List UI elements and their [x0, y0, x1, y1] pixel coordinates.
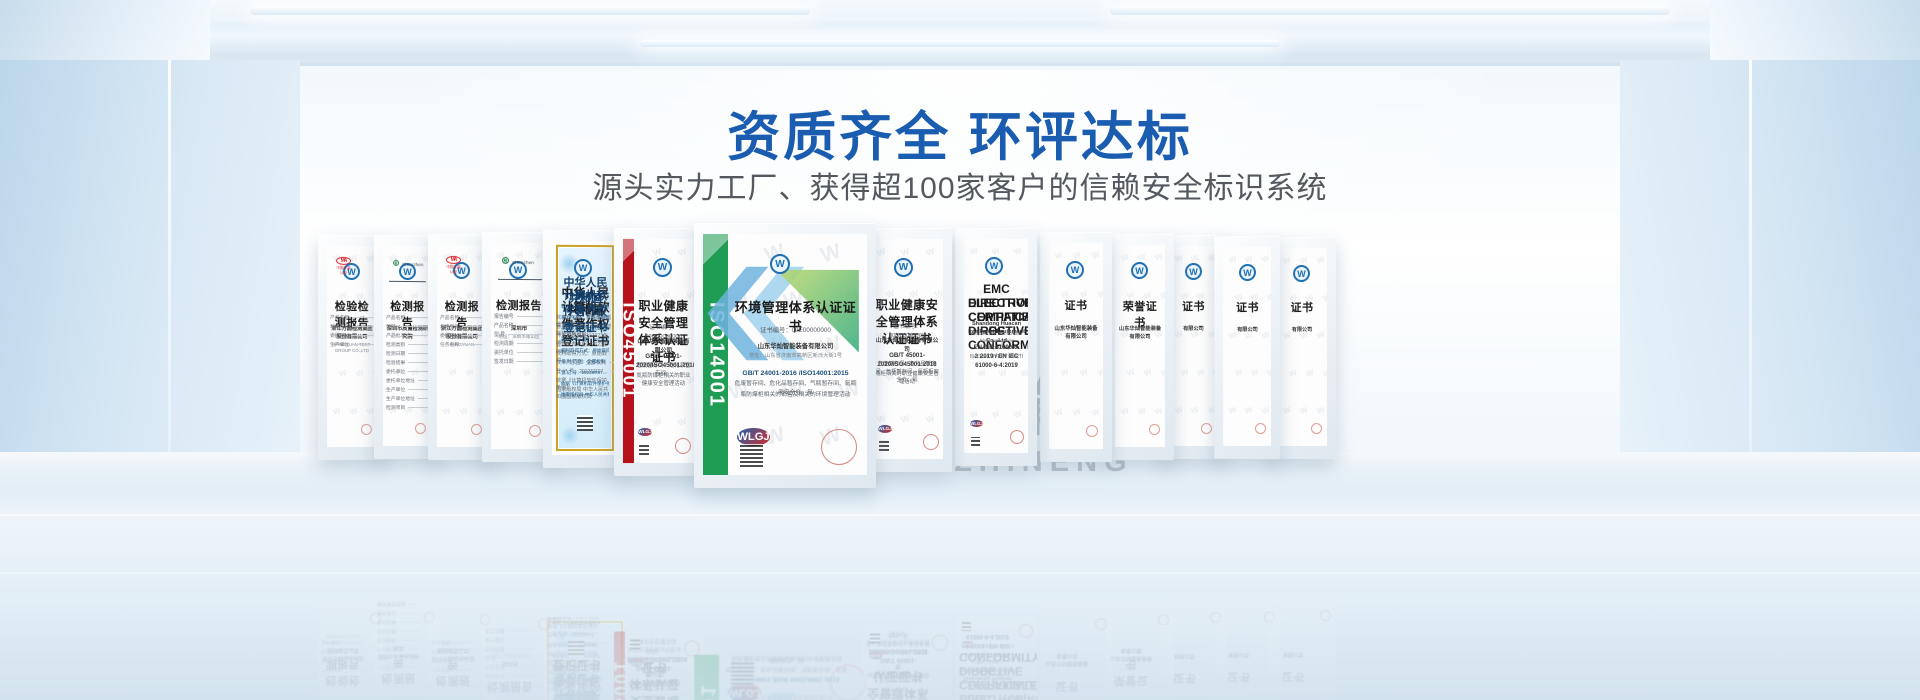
copyright-field: 国家版权局 中华人民共和国国家版权局 — [561, 392, 609, 398]
official-seal — [1086, 425, 1098, 437]
official-seal — [529, 425, 541, 437]
frame-inner: WWWWWWWWWWWWWWWW检测报告浙江方圆检测集团股份有限公司ZHEJIA… — [437, 245, 487, 447]
certificate-holder: 有限公司 — [1217, 650, 1260, 658]
report-field-rule — [499, 657, 535, 658]
report-field-rule — [352, 317, 374, 318]
paper-watermark: W — [1012, 409, 1022, 420]
paper-watermark: W — [515, 250, 525, 261]
report-field-row: 签发日期 — [485, 627, 535, 634]
header-rule — [389, 281, 426, 283]
paper-watermark: W — [1160, 367, 1165, 378]
certificate-frame[interactable]: WWWWWWWWWWWWWWW ISO45001 W职业健康安全管理体系认证证书… — [614, 228, 704, 476]
official-seal — [821, 429, 857, 465]
report-field-rule — [408, 344, 429, 345]
certification-body-emblem: W — [770, 254, 790, 274]
report-field-rule — [399, 667, 420, 668]
report-field-label: 签发日期 — [494, 358, 514, 365]
certification-body-emblem: W — [1239, 264, 1256, 281]
paper-watermark: W — [925, 246, 936, 258]
certificate-scope-line2: 瓶防爆柜相关的销售及相关的环境管理活动 — [732, 391, 859, 400]
qr-code — [568, 642, 584, 658]
header-rule — [498, 279, 542, 281]
paper-watermark: W — [442, 406, 452, 417]
report-field-label: 型号 — [386, 323, 396, 330]
paper-watermark: W — [969, 409, 979, 420]
certificate-holder: 山东华灿智能装备有限公司 — [732, 342, 859, 351]
report-field-row: 产品名称 — [377, 664, 420, 671]
frame-inner: WWWWWWWWWWWWWWWW检验检测报告浙江方圆检测集团股份有限公司ZHEJ… — [327, 246, 377, 448]
report-field-rule — [399, 326, 429, 327]
certificate-holder: 有限公司 — [1163, 651, 1206, 659]
paper-watermark: W — [900, 413, 911, 425]
certificate-frame-reflection: W证书有限公司 — [1268, 599, 1336, 700]
report-field-row: 规格型号 — [321, 657, 365, 664]
report-field-label: 规格型号 — [330, 323, 349, 330]
qr-code — [879, 441, 889, 451]
frame-inner: WWWWWWWWWWWWWWWW证书有限公司 — [1169, 246, 1217, 446]
institute-emblem: 检 — [393, 260, 399, 266]
report-field-label: 检测周期 — [485, 645, 505, 652]
paper-watermark: W — [1120, 406, 1130, 417]
paper-watermark: W — [1174, 405, 1184, 416]
report-field-rule — [408, 353, 429, 354]
report-field-label: 报告编号 — [485, 672, 505, 679]
certificate-paper: WWWWWWWWWWWWWWWW证书有限公司 — [1169, 246, 1217, 446]
report-field-row: 检测类别 — [377, 637, 420, 644]
report-field-label: 规格型号 — [321, 657, 340, 664]
report-field-label: 委托单位 — [431, 648, 450, 655]
report-field-label: 产品名称 — [485, 663, 505, 670]
report-field-rule — [390, 658, 420, 659]
report-field-label: 规格型号 — [440, 323, 459, 330]
paper-watermark: W — [332, 406, 342, 417]
paper-watermark: W — [1228, 254, 1238, 265]
cma-mark-caption: 中国计量认证 — [336, 266, 351, 276]
report-field-label: 签发日期 — [485, 627, 505, 634]
report-field-rule — [508, 334, 544, 335]
paper-watermark: W — [1266, 367, 1271, 378]
official-seal — [1019, 625, 1033, 639]
report-field-row: 生产单位地址 — [386, 395, 429, 402]
report-field-label: 产品批次 — [377, 646, 396, 653]
report-field-label: 产品名称 — [431, 666, 450, 673]
paper-watermark: W — [1190, 405, 1200, 416]
report-field-label: 生产单位 — [330, 341, 349, 348]
certificate-frame[interactable]: WWWWWWWWWWWWWWWW荣誉证书山东华灿智能装备有限公司 — [1106, 234, 1174, 461]
report-field-rule — [343, 642, 365, 643]
frame-inner: WWWWWWWWWWWWWWWW检测报告深圳市地址：深圳市南山区 报告编号 产品… — [491, 243, 547, 449]
report-field-row: 检测项目 — [386, 404, 429, 411]
paper-watermark: W — [1126, 367, 1136, 378]
certificate-color-band: ISO45001 — [614, 632, 625, 700]
report-field-label: 委托单位 — [321, 648, 340, 655]
paper-watermark: W — [1154, 252, 1164, 263]
reflection-surface: ISO45001 W职业健康安全管理体系认证证书证书编号：00Q00000000… — [614, 632, 704, 700]
report-field-row: 产品名称 — [431, 666, 475, 673]
report-field-row: 报告编号 — [494, 313, 544, 320]
report-field-rule — [408, 407, 429, 408]
paper-watermark: W — [448, 367, 458, 378]
accreditation-logo: WLGJ — [728, 683, 761, 700]
report-field-row: 产品名称 — [494, 322, 544, 329]
paper-watermark: W — [1234, 367, 1244, 378]
report-field-row: 检验结果 — [386, 359, 429, 366]
qr-code — [971, 437, 980, 446]
paper-watermark: W — [925, 413, 936, 425]
report-field-rule — [399, 649, 420, 650]
paper-watermark: W — [1316, 406, 1326, 417]
paper-watermark: W — [349, 406, 359, 417]
paper-watermark: W — [969, 246, 979, 257]
certificate-paper: WWWWWWWWWWWWWWW W中华人民共和国计算机软件著作权登记证书 软 件… — [552, 241, 618, 455]
certificate-title: 证书 — [1217, 669, 1260, 685]
accreditation-logo: WLGJ — [961, 642, 974, 649]
certificate-frame-reflection: WEMC DIRECTIVE,ELECTROMAGNETIC COMPATIBI… — [955, 616, 1037, 700]
report-field-row: 委托单位 — [494, 349, 544, 356]
certificate-paper: WWWWWWWWWWWWWWWW证书山东华灿智能装备有限公司 — [1049, 243, 1103, 449]
report-field-rule — [399, 622, 420, 623]
paper-watermark: W — [1091, 250, 1101, 261]
frame-inner: WWWWWWWWWWWWWWW ISO45001 W职业健康安全管理体系认证证书… — [623, 239, 695, 463]
official-seal — [675, 438, 691, 454]
reflection-surface: W职业健康安全管理体系认证证书证书编号：00Q00000000山东华灿智能装备有… — [862, 625, 952, 700]
report-field-row: 委托单位地址 — [377, 601, 420, 608]
paper-watermark: W — [876, 246, 887, 258]
report-field-rule — [517, 352, 544, 353]
report-field-rule — [453, 660, 475, 661]
report-field-rule — [508, 675, 535, 676]
paper-watermark: W — [1282, 255, 1292, 266]
certificate-title: 证书 — [1172, 298, 1215, 314]
reflection-surface: W证书有限公司 — [1268, 599, 1336, 700]
paper-watermark: W — [652, 246, 663, 258]
paper-watermark: W — [1174, 253, 1184, 264]
certificate-title: 证书 — [1271, 669, 1315, 685]
report-field-row: 生产单位 — [386, 386, 429, 393]
certificate-paper: WWWWWWWWWWWWWWWW职业健康安全管理体系认证证书证书编号：00Q00… — [871, 239, 943, 459]
report-field-row: 委托单位 — [321, 648, 365, 655]
copyright-field: 开发完成日期：2023年05月 — [552, 674, 600, 680]
report-field-row: 型号 — [377, 655, 420, 662]
report-field-row: 型号 — [386, 323, 429, 330]
certificate-holder: 有限公司 — [1172, 326, 1215, 334]
report-field-label: 委托单位 — [485, 636, 505, 643]
certificate-title: 检测报告 — [485, 679, 535, 695]
institute-name: Shenzhen — [512, 261, 534, 266]
report-field-label: 检测项目 — [386, 404, 405, 411]
paper-watermark: W — [515, 407, 525, 418]
report-field-label: 产品名称 — [494, 322, 514, 329]
certificate-holder: 山东华灿智能装备有限公司 — [1118, 326, 1162, 342]
paper-watermark: W — [677, 416, 688, 428]
official-seal — [1010, 430, 1024, 444]
certificate-scope-line2: 瓶防爆柜相关的销售及相关的环境管理活动 — [723, 654, 850, 661]
report-field-row: 委托单位地址 — [386, 377, 429, 384]
report-field-rule — [462, 344, 484, 345]
official-seal — [830, 664, 866, 700]
official-seal — [1311, 423, 1322, 434]
paper-watermark: W — [991, 246, 1001, 257]
report-field-label: 任务名称 — [440, 341, 459, 348]
accreditation-logo: WLGJ — [878, 425, 892, 433]
certificate-wall: WWWWWWWWWWWWWWWW检验检测报告浙江方圆检测集团股份有限公司ZHEJ… — [0, 0, 1920, 700]
report-field-rule — [453, 642, 475, 643]
paper-watermark: W — [338, 368, 348, 379]
certificate-title: 证书 — [1280, 299, 1324, 316]
cma-accreditation-mark: MA — [446, 256, 461, 264]
report-field-label: 产品名称 — [377, 664, 396, 671]
paper-watermark: W — [652, 416, 663, 428]
cma-accreditation-mark: MA — [336, 257, 351, 265]
copyright-field: 软 件 名 称：智能在线巡检管理系统 V1.0 — [552, 696, 600, 700]
report-field-label: 产品批次 — [386, 332, 405, 339]
paper-watermark: W — [1288, 368, 1298, 379]
official-seal — [361, 424, 372, 435]
certificate-holder: 山东华灿智能装备有限公司 — [1109, 645, 1153, 661]
report-field-label: 检测周期 — [494, 340, 514, 347]
report-field-row: 检验结果 — [377, 619, 420, 626]
certificate-title: 证书 — [1163, 671, 1206, 687]
cma-mark-caption: 中国计量认证 — [446, 265, 461, 275]
paper-watermark: W — [1137, 406, 1147, 417]
certificate-holder: 山东华灿智能装备有限公司 — [1052, 325, 1100, 341]
paper-watermark: W — [1316, 255, 1326, 266]
paper-watermark: W — [1012, 246, 1022, 257]
certification-body-emblem: W — [985, 257, 1003, 275]
frame-inner: WWWWWWWWWWWWWWWW检测报告深圳市质量检测研究院 产品名称 型号 产… — [383, 246, 431, 446]
paper-watermark: W — [1250, 367, 1260, 378]
certification-body-emblem: W — [1131, 262, 1148, 279]
accreditation-logo: WLGJ — [638, 428, 652, 436]
report-field-label: 报告编号 — [494, 313, 514, 320]
report-field-label: 检验结果 — [386, 359, 405, 366]
report-field-rule — [399, 613, 420, 614]
paper-watermark: W — [1072, 250, 1082, 261]
report-field-rule — [399, 631, 420, 632]
paper-watermark: W — [1260, 254, 1270, 265]
report-field-rule — [408, 335, 429, 336]
certificate-paper: WWWWWWWWWWWWWWWW检测报告浙江方圆检测集团股份有限公司ZHEJIA… — [437, 245, 487, 447]
paper-watermark: W — [1054, 250, 1064, 261]
report-field-row: 委托单位 — [330, 332, 374, 339]
report-field-label: 型 号 — [494, 331, 505, 338]
certificate-paper: WWWWWWWWWWWWWWWW荣誉证书山东华灿智能装备有限公司 — [1115, 245, 1165, 447]
official-seal — [932, 634, 948, 650]
certificate-paper: WWWWWWWWWWWWWWWW检测报告深圳市质量检测研究院 产品名称 型号 产… — [383, 246, 431, 446]
report-field-rule — [408, 362, 429, 363]
paper-watermark: W — [876, 413, 887, 425]
copyright-field: 依据《计算机软件保护条例》 — [561, 381, 609, 387]
certificate-frame[interactable]: WWWWWWWWWWWWWWWWEMC DIRECTIVE,ELECTROMAG… — [955, 228, 1037, 466]
qualification-banner: 资质齐全 环评达标 源头实力工厂、获得超100家客户的信赖安全标识系统 WWWW… — [0, 0, 1920, 700]
report-field-label: 委托单位 — [494, 349, 514, 356]
report-field-label: 委托单位地址 — [377, 601, 406, 608]
certificate-title: 证书 — [1043, 679, 1091, 695]
certificate-frame-reflection: W证书山东华灿智能装备有限公司 — [1040, 607, 1112, 700]
institute-emblem: 检 — [502, 257, 509, 264]
certificate-title: 证书 — [1052, 297, 1100, 313]
report-field-label: 生产单位 — [386, 386, 405, 393]
report-field-row: 委托单位 — [386, 368, 429, 375]
certificate-paper: WWWWWWWWWWWWWWWWEMC DIRECTIVE,ELECTROMAG… — [964, 239, 1028, 453]
certificate-frame[interactable]: WWWWWWWWWWWWWWW ISO14001 W环境管理体系认证证书证书编号… — [694, 223, 876, 488]
paper-watermark: W — [1260, 405, 1270, 416]
paper-watermark: W — [1305, 368, 1315, 379]
certification-body-emblem: W — [1066, 261, 1084, 279]
qr-code — [731, 662, 754, 685]
qr-code — [740, 444, 763, 467]
qr-code — [577, 415, 593, 431]
paper-watermark: W — [1196, 367, 1206, 378]
certificate-holder-address: 地址：山东省济南市高新区新泺大街1号 — [732, 353, 859, 361]
band-ribbon — [623, 239, 634, 275]
accreditation-logo: WLGJ — [970, 420, 983, 427]
report-field-row: 产品名称 — [485, 663, 535, 670]
official-seal — [471, 424, 482, 435]
report-field-label: 产品名称 — [440, 314, 459, 321]
report-field-rule — [343, 660, 365, 661]
certificate-holder: 有限公司 — [1226, 327, 1269, 335]
report-field-rule — [600, 643, 606, 644]
certificate-frame-reflection: ISO45001 W职业健康安全管理体系认证证书证书编号：00Q00000000… — [614, 632, 704, 700]
copyright-field: 登 记 号：2023SR07... — [552, 630, 600, 636]
reflection-surface: W证书山东华灿智能装备有限公司 — [1040, 607, 1112, 700]
report-field-rule — [517, 343, 544, 344]
report-field-rule — [352, 344, 374, 345]
paper-watermark: W — [1060, 367, 1070, 378]
certification-body-emblem: W — [653, 258, 672, 277]
paper-watermark: W — [900, 246, 911, 258]
paper-watermark: W — [1282, 406, 1292, 417]
frame-inner: WWWWWWWWWWWWWWW ISO14001 W环境管理体系认证证书证书编号… — [703, 234, 867, 475]
report-field-rule — [343, 651, 365, 652]
certificate-scope-line2: 瓶柜相关的职业健康安全管理活动 — [875, 371, 939, 387]
report-field-row: 产品名称 — [386, 314, 429, 321]
report-field-rule — [453, 651, 475, 652]
report-field-row: 型 号 — [494, 331, 544, 338]
report-field-rule — [399, 640, 420, 641]
certificate-title: 证书 — [1226, 299, 1269, 315]
qr-code — [639, 445, 649, 455]
frame-inner: WWWWWWWWWWWWWWWW荣誉证书山东华灿智能装备有限公司 — [1115, 245, 1165, 447]
certificate-paper: WWWWWWWWWWWWWWW ISO45001 W职业健康安全管理体系认证证书… — [623, 239, 695, 463]
report-field-row: 检测日期 — [386, 350, 429, 357]
paper-watermark: W — [465, 367, 475, 378]
copyright-field: 著 作 权 人：山东华灿智能装备有限公司 — [552, 685, 600, 691]
report-field-label: 型号 — [377, 655, 387, 662]
certification-body-emblem: W — [894, 258, 913, 277]
certificate-number: 证书编号：00E00000000 — [732, 326, 859, 335]
official-seal — [1320, 611, 1331, 622]
report-field-rule — [508, 639, 535, 640]
report-field-row: 产品批次 — [386, 332, 429, 339]
certificate-title: 检测报告 — [494, 297, 544, 313]
official-seal — [1201, 423, 1212, 434]
report-field-rule — [602, 634, 606, 635]
report-field-label: 委托单位 — [377, 610, 396, 617]
report-field-row: 委托单位 — [485, 636, 535, 643]
certificate-frame-reflection: ISO14001 W环境管理体系认证证书证书编号：00E00000000山东华灿… — [694, 654, 876, 700]
certificate-paper: WWWWWWWWWWWWWWW ISO14001 W环境管理体系认证证书证书编号… — [703, 234, 867, 475]
report-field-row: 规格型号 — [330, 323, 374, 330]
report-field-label: 委托单位地址 — [386, 377, 415, 384]
frame-inner: WWWWWWWWWWWWWWWW职业健康安全管理体系认证证书证书编号：00Q00… — [871, 239, 943, 459]
report-field-label: 规格型号 — [431, 657, 450, 664]
frame-inner: WWWWWWWWWWWWWWWW证书山东华灿智能装备有限公司 — [1049, 243, 1103, 449]
paper-watermark: W — [355, 368, 365, 379]
paper-watermark: W — [1180, 367, 1190, 378]
paper-watermark: W — [1154, 406, 1164, 417]
report-field-row: 委托单位 — [377, 610, 420, 617]
report-field-row: 委托单位 — [440, 332, 484, 339]
report-field-rule — [517, 361, 544, 362]
report-field-row: 产品批次 — [377, 646, 420, 653]
certificate-frame[interactable]: WWWWWWWWWWWWWWWW证书山东华灿智能装备有限公司 — [1040, 232, 1112, 463]
reflection-surface: WEMC DIRECTIVE,ELECTROMAGNETIC COMPATIBI… — [955, 616, 1037, 700]
certificate-holder: 有限公司 — [1271, 649, 1315, 657]
paper-watermark: W — [1228, 405, 1238, 416]
report-field-label: 委托单位 — [440, 332, 459, 339]
copyright-field: 首次发表日期：2023年06月 — [552, 663, 600, 669]
report-field-rule — [508, 648, 535, 649]
certificate-scope-line2: 氮瓶防爆柜相关的职业健康安全管理活动 — [636, 372, 691, 388]
copyright-field: 软 件 名 称：智能在线巡检管理系统 V1.0 — [561, 304, 609, 310]
report-field-row: 规格型号 — [440, 323, 484, 330]
official-seal — [1255, 423, 1266, 434]
report-field-label: 检测类别 — [386, 341, 405, 348]
paper-watermark: W — [1322, 368, 1327, 379]
report-field-rule — [517, 316, 544, 317]
paper-watermark: W — [1072, 407, 1082, 418]
report-field-label: 产品名称 — [386, 314, 405, 321]
report-field-rule — [462, 317, 484, 318]
paper-watermark: W — [1091, 407, 1101, 418]
report-field-label: 检验结果 — [377, 619, 396, 626]
report-field-rule — [408, 371, 429, 372]
frame-inner: WWWWWWWWWWWWWWWW证书有限公司 — [1277, 248, 1327, 447]
report-field-row: 规格型号 — [431, 657, 475, 664]
certificate-frame[interactable]: WWWWWWWWWWWWWWWW证书有限公司 — [1214, 235, 1280, 459]
report-field-rule — [409, 604, 420, 605]
paper-watermark: W — [1143, 367, 1153, 378]
qr-code — [870, 633, 880, 643]
report-field-label: 生产单位地址 — [386, 395, 415, 402]
report-field-rule — [352, 326, 374, 327]
report-field-label: 检测类别 — [377, 637, 396, 644]
certificate-standard: GB/T 24001-2016 /ISO14001:2015 — [732, 369, 859, 379]
paper-watermark: W — [496, 407, 506, 418]
certificate-color-band: ISO45001 — [623, 239, 634, 463]
certificate-paper: WWWWWWWWWWWWWWWW证书有限公司 — [1223, 247, 1271, 447]
frame-inner: WWWWWWWWWWWWWWWW证书有限公司 — [1223, 247, 1271, 447]
report-field-rule — [453, 669, 475, 670]
report-field-label: 型 号 — [485, 654, 496, 661]
copyright-field: 依据《计算机软件保护条例》 — [552, 619, 600, 625]
paper-watermark: W — [1054, 407, 1064, 418]
paper-watermark: W — [1079, 367, 1089, 378]
copyright-field: 权利取得方式：原始取得 — [561, 348, 609, 354]
paper-watermark: W — [522, 367, 532, 378]
report-field-row: 签发日期 — [494, 358, 544, 365]
report-field-label: 任务名称 — [431, 639, 450, 646]
report-field-row: 产品名称 — [440, 314, 484, 321]
certificate-title: 荣誉证书 — [1109, 657, 1153, 689]
frame-inner: WWWWWWWWWWWWWWWWEMC DIRECTIVE,ELECTROMAG… — [964, 239, 1028, 453]
report-field-row: 检测类别 — [386, 341, 429, 348]
report-field-rule — [408, 389, 429, 390]
official-seal — [923, 434, 939, 450]
report-field-rule — [508, 630, 535, 631]
